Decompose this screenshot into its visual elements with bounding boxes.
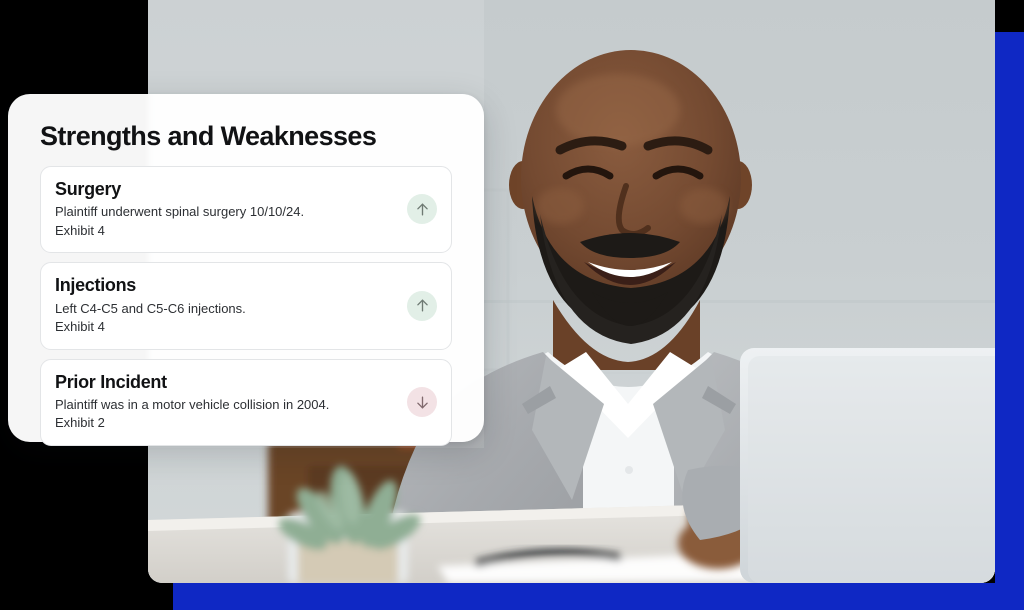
fact-card-description: Left C4-C5 and C5-C6 injections. bbox=[55, 300, 391, 318]
fact-card-description: Plaintiff was in a motor vehicle collisi… bbox=[55, 396, 391, 414]
blue-accent-bar-right bbox=[995, 32, 1024, 610]
arrow-up-icon bbox=[414, 297, 431, 314]
strength-indicator-badge bbox=[407, 194, 437, 224]
blue-accent-bar-bottom bbox=[173, 583, 1024, 610]
canvas-mask-top-left bbox=[0, 0, 148, 94]
page-title: Strengths and Weaknesses bbox=[40, 122, 464, 152]
hero-composition: Strengths and Weaknesses Surgery Plainti… bbox=[0, 0, 1024, 610]
fact-card-surgery[interactable]: Surgery Plaintiff underwent spinal surge… bbox=[40, 166, 452, 253]
arrow-down-icon bbox=[414, 394, 431, 411]
canvas-mask-left-middle bbox=[0, 94, 8, 442]
canvas-mask-top-right bbox=[995, 0, 1024, 32]
fact-card-title: Prior Incident bbox=[55, 371, 391, 394]
fact-card-exhibit: Exhibit 4 bbox=[55, 222, 391, 240]
strength-indicator-badge bbox=[407, 291, 437, 321]
fact-card-title: Surgery bbox=[55, 178, 391, 201]
fact-card-exhibit: Exhibit 2 bbox=[55, 414, 391, 432]
fact-card-title: Injections bbox=[55, 274, 391, 297]
weakness-indicator-badge bbox=[407, 387, 437, 417]
arrow-up-icon bbox=[414, 201, 431, 218]
fact-card-injections[interactable]: Injections Left C4-C5 and C5-C6 injectio… bbox=[40, 262, 452, 349]
strengths-weaknesses-panel: Strengths and Weaknesses Surgery Plainti… bbox=[8, 94, 484, 442]
fact-card-prior-incident[interactable]: Prior Incident Plaintiff was in a motor … bbox=[40, 359, 452, 446]
fact-card-exhibit: Exhibit 4 bbox=[55, 318, 391, 336]
canvas-mask-bottom-left bbox=[0, 442, 148, 610]
fact-card-list: Surgery Plaintiff underwent spinal surge… bbox=[28, 166, 464, 446]
fact-card-description: Plaintiff underwent spinal surgery 10/10… bbox=[55, 203, 391, 221]
